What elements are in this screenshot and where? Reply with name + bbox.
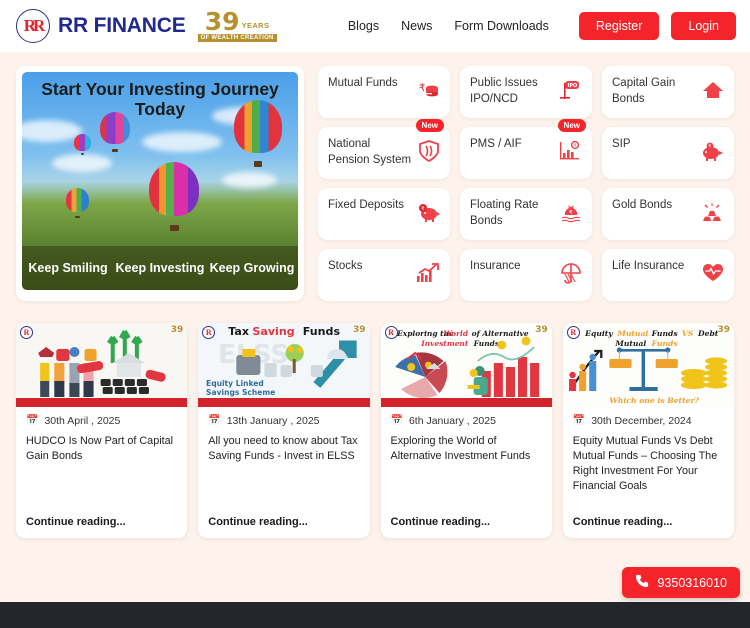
hero-tagline-3: Keep Growing bbox=[206, 261, 298, 275]
tile-capital-gain-bonds[interactable]: Capital Gain Bonds bbox=[602, 66, 734, 118]
phone-icon bbox=[635, 574, 649, 591]
art-caption-bar bbox=[16, 398, 187, 407]
art-caption-bar bbox=[381, 398, 552, 407]
tile-label: Life Insurance bbox=[612, 258, 684, 274]
tile-label: Insurance bbox=[470, 258, 521, 274]
login-button[interactable]: Login bbox=[671, 12, 736, 40]
anniversary-number: 39 bbox=[535, 325, 548, 335]
svg-text:Funds: Funds bbox=[650, 339, 678, 348]
product-tiles-grid: Mutual Funds ₹ Public Issues IPO/NCD IPO… bbox=[318, 66, 734, 301]
svg-text:Funds: Funds bbox=[303, 325, 341, 338]
calendar-icon: 📅 bbox=[26, 416, 38, 426]
svg-text:Mutual: Mutual bbox=[614, 339, 646, 348]
blog-date-text: 6th January , 2025 bbox=[409, 415, 496, 427]
blog-card[interactable]: R 39 ELSS Tax Saving Funds bbox=[198, 323, 369, 538]
shield-icon bbox=[418, 140, 440, 167]
continue-reading-link[interactable]: Continue reading... bbox=[26, 516, 177, 528]
site-footer bbox=[0, 602, 750, 628]
rupee-coins-icon: ₹ bbox=[418, 80, 440, 105]
umbrella-icon bbox=[560, 262, 582, 289]
svg-text:Funds: Funds bbox=[472, 339, 499, 348]
gold-bars-icon bbox=[700, 202, 724, 227]
anniversary-tagline: OF WEALTH CREATION bbox=[198, 34, 277, 42]
svg-text:Mutual: Mutual bbox=[616, 329, 648, 338]
piggy-bank-coin-icon: ₹ bbox=[416, 202, 440, 227]
hero-taglines: Keep Smiling Keep Investing Keep Growing bbox=[22, 246, 298, 290]
heart-pulse-icon bbox=[702, 263, 724, 288]
blog-card-image: R 39 bbox=[16, 323, 187, 407]
tile-label: Mutual Funds bbox=[328, 75, 398, 91]
balloon-icon bbox=[149, 162, 199, 230]
nav-form-downloads[interactable]: Form Downloads bbox=[454, 19, 548, 33]
blog-card-title: HUDCO Is Now Part of Capital Gain Bonds bbox=[26, 434, 177, 464]
hero-title: Start Your Investing Journey Today bbox=[22, 80, 298, 119]
tile-sip[interactable]: SIP ₹ bbox=[602, 127, 734, 179]
svg-text:₹: ₹ bbox=[421, 206, 424, 212]
hero-tagline-1: Keep Smiling bbox=[22, 261, 114, 275]
blog-card-image: R 39 Exploring the World of Alternative … bbox=[381, 323, 552, 407]
svg-text:Investment: Investment bbox=[420, 339, 469, 348]
blog-card[interactable]: R 39 Exploring the World of Alternative … bbox=[381, 323, 552, 538]
rr-logo-icon: R bbox=[567, 326, 580, 339]
svg-text:₹: ₹ bbox=[574, 142, 577, 148]
rr-logo-icon: R bbox=[385, 326, 398, 339]
blog-card-body: 📅 30th April , 2025 HUDCO Is Now Part of… bbox=[16, 407, 187, 538]
svg-text:VS: VS bbox=[682, 329, 694, 338]
tile-label: Capital Gain Bonds bbox=[612, 75, 698, 108]
blog-card-date: 📅 30th April , 2025 bbox=[26, 415, 177, 427]
svg-text:of Alternative: of Alternative bbox=[471, 329, 528, 338]
hero-banner[interactable]: Start Your Investing Journey Today bbox=[16, 66, 304, 301]
anniversary-number: 39 bbox=[353, 325, 366, 335]
tile-public-issues[interactable]: Public Issues IPO/NCD IPO bbox=[460, 66, 592, 118]
anniversary-number: 39 bbox=[205, 10, 240, 33]
tile-floating-rate-bonds[interactable]: Floating Rate Bonds ₹ bbox=[460, 188, 592, 240]
tile-mutual-funds[interactable]: Mutual Funds ₹ bbox=[318, 66, 450, 118]
house-icon bbox=[702, 80, 724, 105]
continue-reading-link[interactable]: Continue reading... bbox=[573, 516, 724, 528]
growth-arrow-icon bbox=[416, 263, 440, 288]
blog-card-date: 📅 6th January , 2025 bbox=[391, 415, 542, 427]
calendar-icon: 📅 bbox=[573, 416, 585, 426]
badge-new: New bbox=[558, 119, 586, 132]
tile-life-insurance[interactable]: Life Insurance bbox=[602, 249, 734, 301]
balloon-icon bbox=[66, 188, 89, 218]
svg-text:IPO: IPO bbox=[568, 83, 578, 89]
tile-gold-bonds[interactable]: Gold Bonds bbox=[602, 188, 734, 240]
tile-label: Floating Rate Bonds bbox=[470, 197, 556, 230]
blog-card-date: 📅 30th December, 2024 bbox=[573, 415, 724, 427]
art-caption-bar bbox=[198, 398, 369, 407]
calendar-icon: 📅 bbox=[208, 416, 220, 426]
tile-label: Fixed Deposits bbox=[328, 197, 404, 213]
blog-card-image: R 39 Equity Mutual Funds VS Debt Mutual … bbox=[563, 323, 734, 407]
blog-card-title: Exploring the World of Alternative Inves… bbox=[391, 434, 542, 464]
anniversary-number: 39 bbox=[717, 325, 730, 335]
balloon-icon bbox=[74, 134, 91, 155]
blog-card-date: 📅 13th January , 2025 bbox=[208, 415, 359, 427]
blog-date-text: 30th April , 2025 bbox=[44, 415, 120, 427]
anniversary-years: YEARS bbox=[242, 21, 270, 33]
bar-chart-person-icon: ₹ bbox=[558, 140, 582, 167]
svg-text:₹: ₹ bbox=[708, 143, 711, 149]
svg-text:Equity: Equity bbox=[584, 329, 613, 338]
svg-text:Funds: Funds bbox=[650, 329, 678, 338]
tile-stocks[interactable]: Stocks bbox=[318, 249, 450, 301]
main-content: Start Your Investing Journey Today bbox=[0, 52, 750, 301]
blog-card-body: 📅 6th January , 2025 Exploring the World… bbox=[381, 407, 552, 538]
tile-label: SIP bbox=[612, 136, 631, 152]
rr-logo-icon: R bbox=[20, 326, 33, 339]
svg-text:Which one is Better?: Which one is Better? bbox=[609, 396, 699, 405]
svg-text:World: World bbox=[443, 329, 468, 338]
svg-text:₹: ₹ bbox=[419, 83, 425, 94]
anniversary-badge: 39 YEARS OF WEALTH CREATION bbox=[198, 10, 277, 42]
svg-text:₹: ₹ bbox=[569, 209, 573, 216]
hero-tagline-2: Keep Investing bbox=[114, 261, 206, 275]
blog-cards: R 39 bbox=[0, 301, 750, 538]
nav-news[interactable]: News bbox=[401, 19, 432, 33]
tile-insurance[interactable]: Insurance bbox=[460, 249, 592, 301]
anniversary-number: 39 bbox=[171, 325, 184, 335]
tile-pms-aif[interactable]: New PMS / AIF ₹ bbox=[460, 127, 592, 179]
money-bag-icon: ₹ bbox=[560, 201, 582, 228]
blog-card[interactable]: R 39 bbox=[16, 323, 187, 538]
blog-date-text: 30th December, 2024 bbox=[591, 415, 691, 427]
site-header: RR RR FINANCE 39 YEARS OF WEALTH CREATIO… bbox=[0, 0, 750, 52]
main-navigation: Blogs News Form Downloads Register Login bbox=[348, 12, 736, 40]
continue-reading-link[interactable]: Continue reading... bbox=[208, 516, 359, 528]
nav-blogs[interactable]: Blogs bbox=[348, 19, 379, 33]
ipo-signboard-icon: IPO bbox=[558, 79, 582, 106]
blog-card-title: All you need to know about Tax Saving Fu… bbox=[208, 434, 359, 464]
blog-date-text: 13th January , 2025 bbox=[227, 415, 320, 427]
svg-text:Tax: Tax bbox=[228, 325, 249, 338]
blog-card-body: 📅 13th January , 2025 All you need to kn… bbox=[198, 407, 369, 538]
continue-reading-link[interactable]: Continue reading... bbox=[391, 516, 542, 528]
blog-card[interactable]: R 39 Equity Mutual Funds VS Debt Mutual … bbox=[563, 323, 734, 538]
register-button[interactable]: Register bbox=[579, 12, 660, 40]
tile-fixed-deposits[interactable]: Fixed Deposits ₹ bbox=[318, 188, 450, 240]
hero-image: Start Your Investing Journey Today bbox=[22, 72, 298, 290]
svg-text:Equity Linked: Equity Linked bbox=[206, 379, 264, 388]
blog-card-image: R 39 ELSS Tax Saving Funds bbox=[198, 323, 369, 407]
svg-text:Debt: Debt bbox=[697, 329, 719, 338]
svg-text:Savings Scheme: Savings Scheme bbox=[206, 388, 275, 397]
phone-number: 9350316010 bbox=[657, 576, 727, 590]
piggy-bank-icon: ₹ bbox=[700, 141, 724, 166]
badge-new: New bbox=[416, 119, 444, 132]
svg-text:Saving: Saving bbox=[253, 325, 295, 338]
tile-label: Gold Bonds bbox=[612, 197, 672, 213]
blog-card-title: Equity Mutual Funds Vs Debt Mutual Funds… bbox=[573, 434, 724, 494]
tile-label: Public Issues IPO/NCD bbox=[470, 75, 554, 108]
call-widget[interactable]: 9350316010 bbox=[622, 567, 740, 598]
rr-logo-icon: RR bbox=[16, 9, 50, 43]
tile-label: PMS / AIF bbox=[470, 136, 522, 152]
brand-name: RR FINANCE bbox=[58, 14, 186, 38]
brand-logo[interactable]: RR RR FINANCE 39 YEARS OF WEALTH CREATIO… bbox=[16, 9, 277, 43]
blog-card-body: 📅 30th December, 2024 Equity Mutual Fund… bbox=[563, 407, 734, 538]
calendar-icon: 📅 bbox=[391, 416, 403, 426]
tile-label: Stocks bbox=[328, 258, 363, 274]
tile-label: National Pension System bbox=[328, 136, 414, 169]
tile-national-pension-system[interactable]: New National Pension System bbox=[318, 127, 450, 179]
